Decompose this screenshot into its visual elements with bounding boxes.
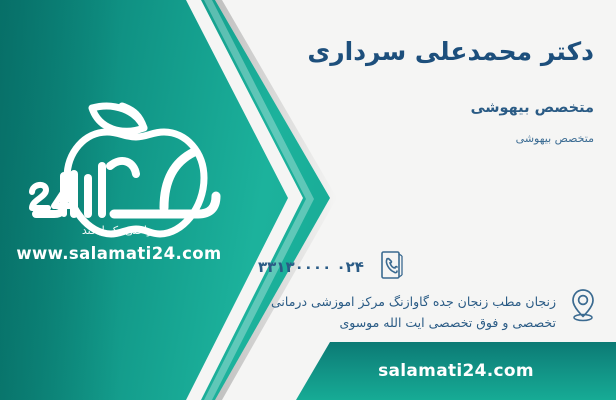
footer-site-label: salamati24.com	[378, 361, 534, 381]
brand-logo: براحتی یک لبخند www.salamati24.com	[14, 96, 224, 276]
badge-24	[32, 185, 72, 214]
logo-website-url: www.salamati24.com	[14, 244, 224, 263]
contact-row-phone[interactable]: ۳۳۱۳۰۰۰۰ ۰۲۴	[258, 248, 598, 282]
doctor-specialty-secondary: متخصص بیهوشی	[234, 132, 594, 145]
phone-number: ۳۳۱۳۰۰۰۰ ۰۲۴	[258, 248, 364, 280]
logo-tagline: براحتی یک لبخند	[14, 224, 224, 237]
doctor-name: دکتر محمدعلی سرداری	[234, 36, 594, 69]
address-text: زنجان مطب زنجان جده گاوازنگ مرکز اموزشی …	[248, 288, 556, 333]
doctor-specialty-primary: متخصص بیهوشی	[234, 100, 594, 116]
location-pin-icon	[568, 288, 598, 322]
phone-book-icon	[376, 248, 406, 282]
footer-bar[interactable]: salamati24.com	[296, 342, 616, 400]
contact-row-address[interactable]: زنجان مطب زنجان جده گاوازنگ مرکز اموزشی …	[248, 288, 598, 333]
business-card: براحتی یک لبخند www.salamati24.com دکتر …	[0, 0, 616, 400]
